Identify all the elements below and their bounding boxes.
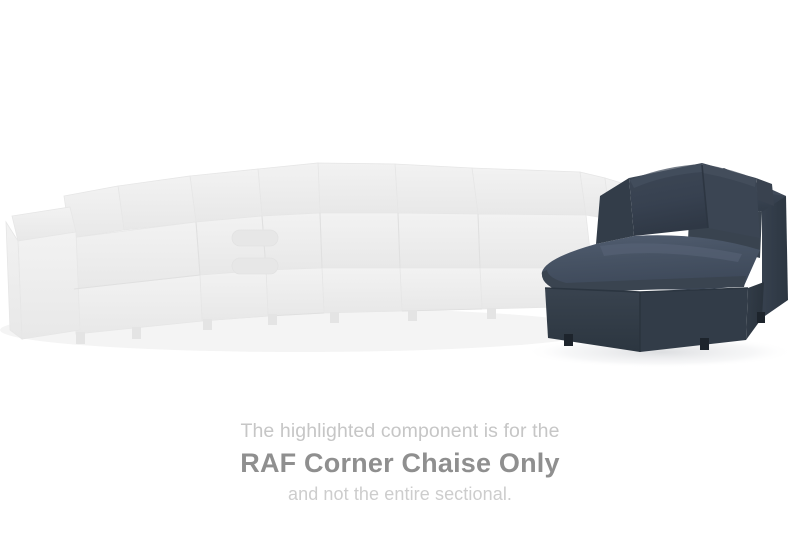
ghost-base-corner [266, 268, 324, 316]
ghost-seat-3 [320, 213, 400, 268]
ghost-back-cushion-5 [472, 168, 586, 215]
caption-line-main: RAF Corner Chaise Only [0, 445, 800, 481]
ghost-loveseat-back-cushion-a [118, 176, 196, 230]
ghost-back-cushion-2 [190, 169, 262, 222]
ghost-corner-wedge-front [200, 270, 268, 321]
ghost-pillow-stub-lower [232, 258, 278, 274]
ghost-seat-4 [398, 213, 480, 268]
chaise-leg-back-right [757, 312, 765, 323]
ghost-base-mid1 [322, 268, 402, 313]
ghost-base-mid2 [400, 268, 482, 311]
chaise-leg-front-right [700, 338, 709, 350]
chaise-base-side [746, 282, 764, 340]
ghost-pillow-stub-upper [232, 230, 278, 246]
sectional-illustration [0, 0, 800, 400]
caption-line-top: The highlighted component is for the [0, 418, 800, 445]
caption-line-bottom: and not the entire sectional. [0, 481, 800, 508]
ghost-back-cushion-corner [258, 163, 320, 216]
ghost-sectional-group [0, 163, 628, 352]
screenshot-root: The highlighted component is for the RAF… [0, 0, 800, 533]
chaise-leg-front-left [564, 334, 573, 346]
chaise-right-arm-outer [762, 196, 788, 318]
ghost-left-arm-face [18, 232, 80, 339]
ghost-back-cushion-4 [395, 164, 478, 214]
caption-block: The highlighted component is for the RAF… [0, 418, 800, 508]
product-image [0, 0, 800, 400]
ghost-back-cushion-3 [318, 163, 398, 213]
